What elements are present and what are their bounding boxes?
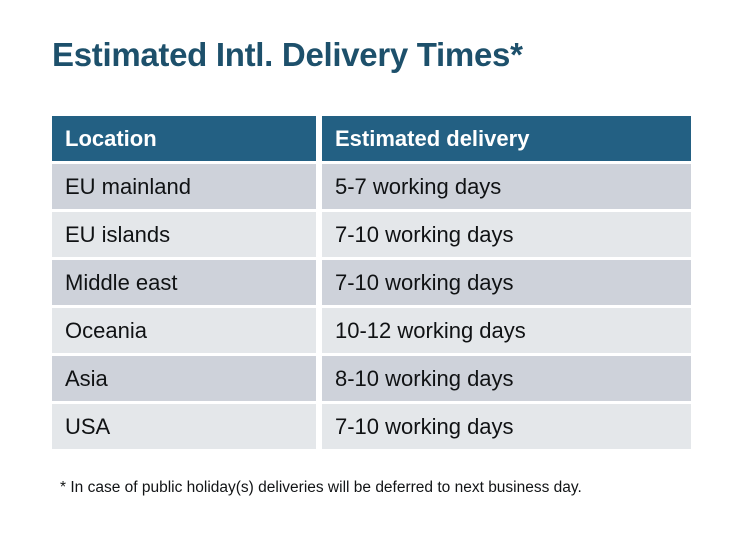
- column-header-estimated-delivery: Estimated delivery: [322, 116, 691, 161]
- table-row: Middle east 7-10 working days: [52, 260, 691, 305]
- table-row: USA 7-10 working days: [52, 404, 691, 449]
- delivery-times-table: Location Estimated delivery EU mainland …: [52, 116, 691, 452]
- table-row: Asia 8-10 working days: [52, 356, 691, 401]
- page-title: Estimated Intl. Delivery Times*: [52, 36, 523, 74]
- cell-delivery: 7-10 working days: [322, 404, 691, 449]
- table-row: Oceania 10-12 working days: [52, 308, 691, 353]
- cell-location: Asia: [52, 356, 316, 401]
- table-header-row: Location Estimated delivery: [52, 116, 691, 161]
- cell-location: Oceania: [52, 308, 316, 353]
- delivery-times-card: Estimated Intl. Delivery Times* Location…: [0, 0, 745, 536]
- column-header-location: Location: [52, 116, 316, 161]
- cell-delivery: 7-10 working days: [322, 260, 691, 305]
- cell-location: USA: [52, 404, 316, 449]
- cell-location: EU mainland: [52, 164, 316, 209]
- cell-location: EU islands: [52, 212, 316, 257]
- table-row: EU mainland 5-7 working days: [52, 164, 691, 209]
- cell-delivery: 8-10 working days: [322, 356, 691, 401]
- cell-delivery: 7-10 working days: [322, 212, 691, 257]
- cell-delivery: 10-12 working days: [322, 308, 691, 353]
- table-row: EU islands 7-10 working days: [52, 212, 691, 257]
- cell-location: Middle east: [52, 260, 316, 305]
- cell-delivery: 5-7 working days: [322, 164, 691, 209]
- footnote-text: * In case of public holiday(s) deliverie…: [60, 479, 582, 497]
